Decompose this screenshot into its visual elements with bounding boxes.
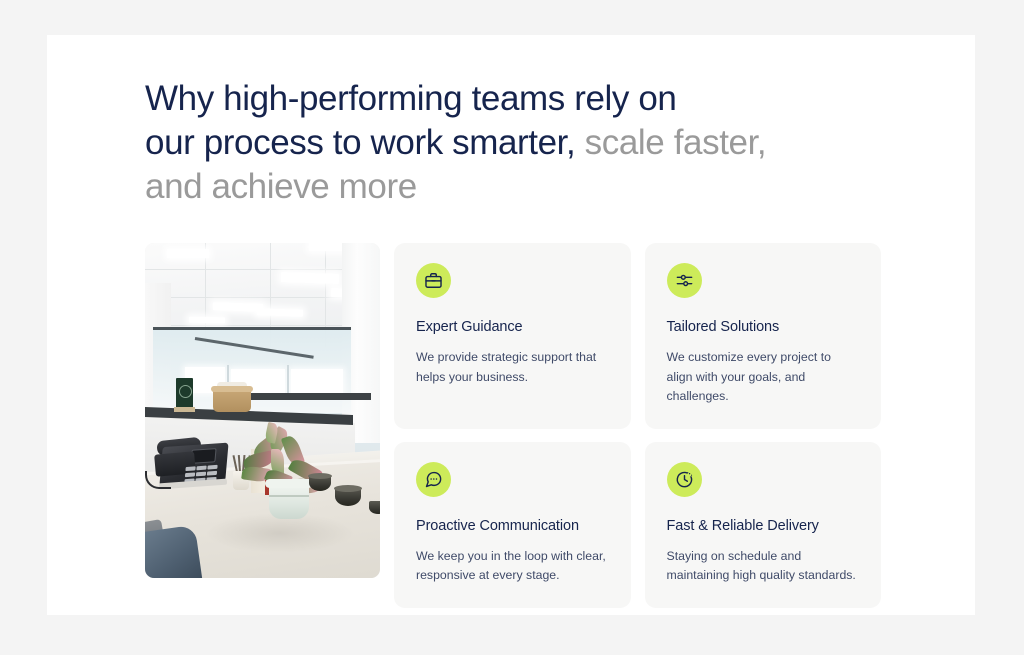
headline-line-1: Why high-performing teams rely on <box>145 79 676 118</box>
ceiling-light <box>167 249 209 258</box>
photo-illustration <box>145 243 380 578</box>
card-title: Expert Guidance <box>416 319 609 335</box>
ceiling-light <box>281 272 339 284</box>
feature-card-proactive-communication[interactable]: Proactive Communication We keep you in t… <box>394 442 631 608</box>
content-panel: Why high-performing teams rely on our pr… <box>47 35 975 615</box>
features-section: Expert Guidance We provide strategic sup… <box>145 243 881 578</box>
card-description: We customize every project to align with… <box>667 348 860 407</box>
card-title: Fast & Reliable Delivery <box>667 518 860 534</box>
feature-card-expert-guidance[interactable]: Expert Guidance We provide strategic sup… <box>394 243 631 429</box>
wicker-basket <box>213 389 251 412</box>
ceramic-bowl-rim <box>334 485 362 492</box>
wicker-basket-rim <box>211 386 253 392</box>
feature-cards-grid: Expert Guidance We provide strategic sup… <box>394 243 881 578</box>
window <box>291 369 343 395</box>
feature-card-fast-reliable-delivery[interactable]: Fast & Reliable Delivery Staying on sche… <box>645 442 882 608</box>
sliders-icon <box>667 263 702 298</box>
card-description: We provide strategic support that helps … <box>416 348 609 387</box>
ceiling-light <box>189 317 225 324</box>
feature-card-tailored-solutions[interactable]: Tailored Solutions We customize every pr… <box>645 243 882 429</box>
office-interior-photo <box>145 243 380 578</box>
ceramic-bowl-rim <box>308 473 332 479</box>
book-stand <box>174 407 195 412</box>
chat-bubble-icon <box>416 462 451 497</box>
clock-icon <box>667 462 702 497</box>
card-title: Tailored Solutions <box>667 319 860 335</box>
briefcase-icon <box>416 263 451 298</box>
plant-pot <box>269 483 309 519</box>
page-title: Why high-performing teams rely on our pr… <box>145 77 905 209</box>
back-counter-ledge <box>241 393 371 400</box>
card-title: Proactive Communication <box>416 518 609 534</box>
card-description: We keep you in the loop with clear, resp… <box>416 547 609 586</box>
ceramic-bowl <box>369 501 380 514</box>
headline-line-2-dark: our process to work smarter, <box>145 123 575 162</box>
card-description: Staying on schedule and maintaining high… <box>667 547 860 586</box>
ceiling-light <box>213 302 263 312</box>
desk-shadow <box>205 513 355 553</box>
plant-pot-ring <box>269 495 309 497</box>
office-chair <box>145 525 203 578</box>
glass-partition-frame <box>153 327 351 330</box>
plant-pot-rim <box>265 479 313 488</box>
headline-line-3-muted: and achieve more <box>145 167 417 206</box>
decorative-book <box>176 378 193 409</box>
headline-line-2-muted: scale faster, <box>575 123 766 162</box>
